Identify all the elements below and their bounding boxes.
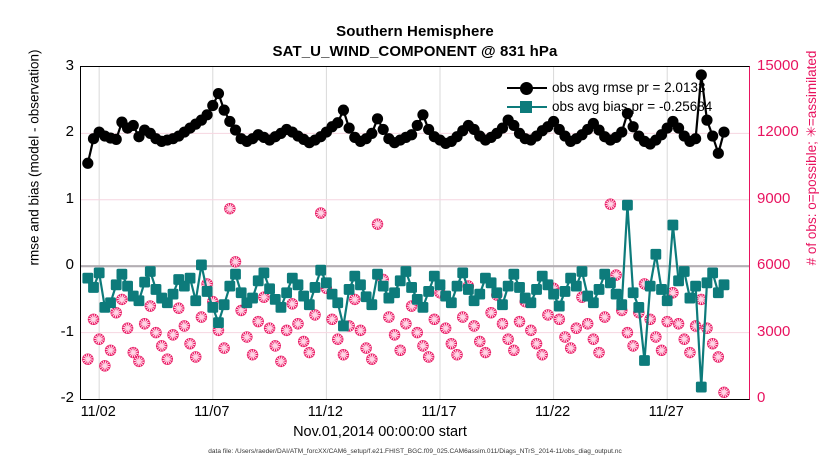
x-tick-0: 11/02: [63, 404, 133, 420]
chart-canvas: [81, 67, 749, 399]
chart-legend: obs avg rmse pr = 2.0133 obs avg bias pr…: [505, 78, 712, 116]
legend-label-rmse: obs avg rmse pr = 2.0133: [552, 80, 705, 95]
square-marker-icon: [505, 100, 549, 114]
chart-page: Southern Hemisphere SAT_U_WIND_COMPONENT…: [0, 0, 830, 470]
x-tick-1: 11/07: [177, 404, 247, 420]
right-tick-5: 0: [757, 389, 817, 406]
plot-area[interactable]: [80, 66, 750, 400]
x-tick-5: 11/27: [631, 404, 701, 420]
data-file-footer: data file: /Users/raeder/DAI/ATM_forcXX/…: [0, 448, 830, 455]
x-axis-label: Nov.01,2014 00:00:00 start: [0, 424, 760, 440]
right-axis-label: # of obs: o=possible; ✳=assimilated: [804, 0, 820, 328]
chart-title-block: Southern Hemisphere SAT_U_WIND_COMPONENT…: [0, 22, 830, 62]
legend-entry-rmse[interactable]: obs avg rmse pr = 2.0133: [505, 78, 712, 97]
x-tick-4: 11/22: [518, 404, 588, 420]
left-axis-label: rmse and bias (model - observation): [27, 0, 42, 328]
chart-title-line-2: SAT_U_WIND_COMPONENT @ 831 hPa: [0, 42, 830, 62]
x-tick-3: 11/17: [404, 404, 474, 420]
plot-inner: [81, 67, 749, 399]
x-tick-2: 11/12: [290, 404, 360, 420]
legend-entry-bias[interactable]: obs avg bias pr = -0.25684: [505, 97, 712, 116]
circle-marker-icon: [505, 81, 549, 95]
series-bias-markers: [82, 200, 729, 393]
legend-label-bias: obs avg bias pr = -0.25684: [552, 99, 712, 114]
series-obs-assimilated: [83, 199, 730, 398]
chart-title-line-1: Southern Hemisphere: [0, 22, 830, 42]
